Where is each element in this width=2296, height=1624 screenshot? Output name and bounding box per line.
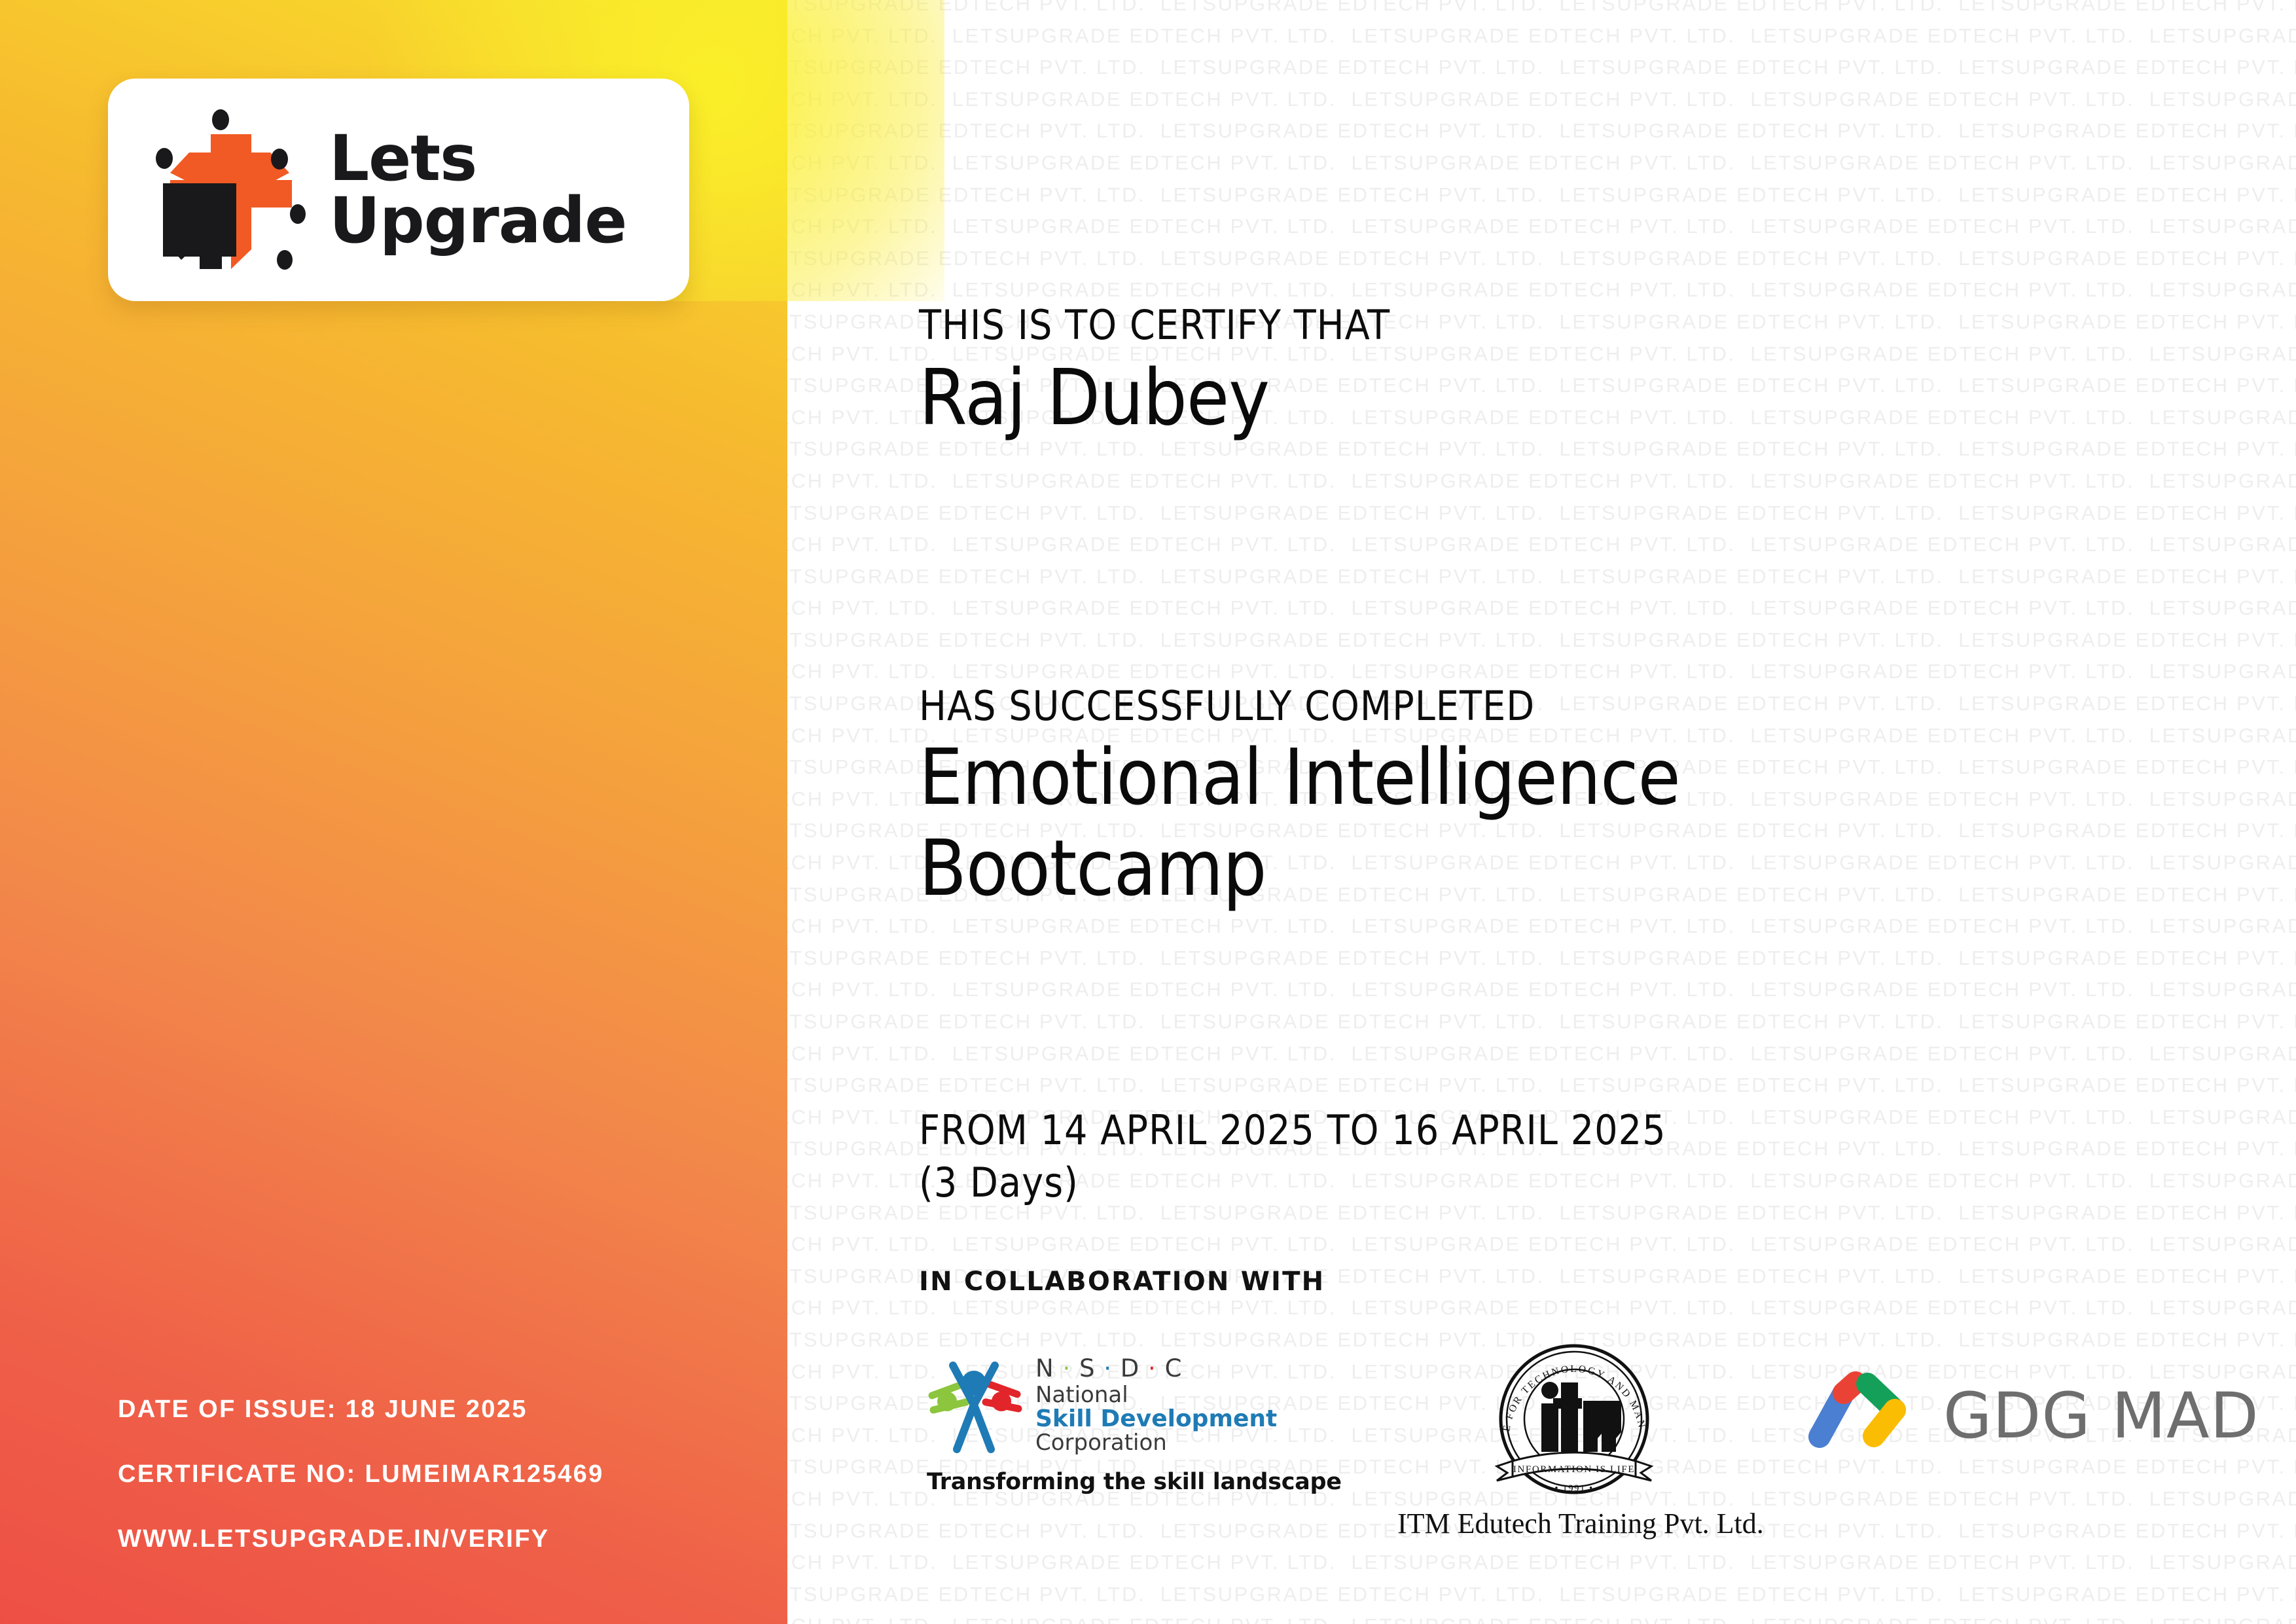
watermark-row: LETSUPGRADE EDTECH PVT. LTD. LETSUPGRADE…	[787, 0, 2296, 20]
watermark-row: LETSUPGRADE EDTECH PVT. LTD. LETSUPGRADE…	[787, 52, 2296, 84]
date-of-issue: DATE OF ISSUE: 18 JUNE 2025	[118, 1396, 604, 1424]
gdg-label: GDG MAD	[1943, 1384, 2259, 1447]
watermark-row: LETSUPGRADE EDTECH PVT. LTD. LETSUPGRADE…	[787, 465, 2296, 497]
letsupgrade-asterisk-arrow-icon	[149, 108, 320, 272]
partner-itm: INSTITUTE FOR TECHNOLOGY AND MANAGEMENT	[1397, 1335, 1751, 1540]
letsupgrade-wordmark: Lets Upgrade	[329, 128, 626, 252]
watermark-row: LETSUPGRADE EDTECH PVT. LTD. LETSUPGRADE…	[787, 179, 2296, 211]
watermark-row: LETSUPGRADE EDTECH PVT. LTD. LETSUPGRADE…	[787, 147, 2296, 179]
certificate-meta-footer: DATE OF ISSUE: 18 JUNE 2025 CERTIFICATE …	[118, 1396, 604, 1553]
nsdc-name-line2: Skill Development	[1035, 1407, 1277, 1431]
partner-nsdc: N · S · D · C National Skill Development…	[927, 1354, 1293, 1495]
nsdc-name-line1: National	[1035, 1384, 1277, 1407]
watermark-row: LETSUPGRADE EDTECH PVT. LTD. LETSUPGRADE…	[787, 497, 2296, 530]
verify-url[interactable]: WWW.LETSUPGRADE.IN/VERIFY	[118, 1525, 604, 1553]
nsdc-dot-blue: ·	[1095, 1354, 1120, 1382]
watermark-row: LETSUPGRADE EDTECH PVT. LTD. LETSUPGRADE…	[787, 592, 2296, 624]
watermark-row: LETSUPGRADE EDTECH PVT. LTD. LETSUPGRADE…	[787, 1038, 2296, 1070]
watermark-row: LETSUPGRADE EDTECH PVT. LTD. LETSUPGRADE…	[787, 1006, 2296, 1038]
gdg-logo-icon	[1803, 1368, 1921, 1463]
nsdc-letter-s: S	[1079, 1354, 1096, 1382]
svg-text:INFORMATION IS LIFE: INFORMATION IS LIFE	[1513, 1464, 1634, 1475]
certificate-number: CERTIFICATE NO: LUMEIMAR125469	[118, 1460, 604, 1489]
course-duration: (3 Days)	[919, 1159, 1079, 1206]
watermark-row: LETSUPGRADE EDTECH PVT. LTD. LETSUPGRADE…	[787, 911, 2296, 943]
partner-logo-row: N · S · D · C National Skill Development…	[916, 1335, 2265, 1571]
partner-gdg: GDG MAD	[1803, 1368, 2259, 1463]
watermark-row: LETSUPGRADE EDTECH PVT. LTD. LETSUPGRADE…	[787, 1610, 2296, 1624]
watermark-row: LETSUPGRADE EDTECH PVT. LTD. LETSUPGRADE…	[787, 115, 2296, 147]
certificate-page: LETSUPGRADE EDTECH PVT. LTD. LETSUPGRADE…	[0, 0, 2296, 1624]
nsdc-dot-green: ·	[1054, 1354, 1079, 1382]
course-date-range: FROM 14 APRIL 2025 TO 16 APRIL 2025	[919, 1106, 1666, 1154]
watermark-row: LETSUPGRADE EDTECH PVT. LTD. LETSUPGRADE…	[787, 84, 2296, 116]
nsdc-name-line3: Corporation	[1035, 1432, 1277, 1454]
watermark-row: LETSUPGRADE EDTECH PVT. LTD. LETSUPGRADE…	[787, 243, 2296, 275]
watermark-row: LETSUPGRADE EDTECH PVT. LTD. LETSUPGRADE…	[787, 624, 2296, 657]
svg-text:• 1991 •: • 1991 •	[1554, 1483, 1593, 1494]
watermark-row: LETSUPGRADE EDTECH PVT. LTD. LETSUPGRADE…	[787, 1229, 2296, 1261]
nsdc-people-icon	[927, 1354, 1025, 1453]
nsdc-tagline: Transforming the skill landscape	[927, 1469, 1293, 1495]
watermark-row: LETSUPGRADE EDTECH PVT. LTD. LETSUPGRADE…	[787, 943, 2296, 975]
watermark-row: LETSUPGRADE EDTECH PVT. LTD. LETSUPGRADE…	[787, 1579, 2296, 1611]
letsupgrade-logo-card: Lets Upgrade	[108, 79, 689, 301]
course-title: Emotional Intelligence Bootcamp	[919, 732, 1901, 914]
nsdc-letter-n: N	[1035, 1354, 1054, 1382]
logo-word-line2: Upgrade	[329, 190, 626, 252]
recipient-name: Raj Dubey	[919, 352, 1269, 443]
nsdc-dot-red: ·	[1139, 1354, 1164, 1382]
watermark-row: LETSUPGRADE EDTECH PVT. LTD. LETSUPGRADE…	[787, 1292, 2296, 1324]
watermark-row: LETSUPGRADE EDTECH PVT. LTD. LETSUPGRADE…	[787, 529, 2296, 561]
completed-label: HAS SUCCESSFULLY COMPLETED	[919, 682, 1535, 730]
watermark-row: LETSUPGRADE EDTECH PVT. LTD. LETSUPGRADE…	[787, 20, 2296, 52]
nsdc-letter-c: C	[1165, 1354, 1183, 1382]
itm-name: ITM Edutech Training Pvt. Ltd.	[1397, 1507, 1751, 1540]
watermark-row: LETSUPGRADE EDTECH PVT. LTD. LETSUPGRADE…	[787, 561, 2296, 593]
nsdc-acronym: N · S · D · C	[1035, 1356, 1277, 1380]
watermark-row: LETSUPGRADE EDTECH PVT. LTD. LETSUPGRADE…	[787, 211, 2296, 243]
watermark-row: LETSUPGRADE EDTECH PVT. LTD. LETSUPGRADE…	[787, 1070, 2296, 1102]
certify-label: THIS IS TO CERTIFY THAT	[919, 301, 1390, 349]
logo-word-line1: Lets	[329, 128, 626, 190]
nsdc-letter-d: D	[1121, 1354, 1140, 1382]
watermark-row: LETSUPGRADE EDTECH PVT. LTD. LETSUPGRADE…	[787, 974, 2296, 1006]
itm-seal-icon: INSTITUTE FOR TECHNOLOGY AND MANAGEMENT	[1397, 1335, 1751, 1499]
collaboration-label: IN COLLABORATION WITH	[919, 1267, 1325, 1297]
